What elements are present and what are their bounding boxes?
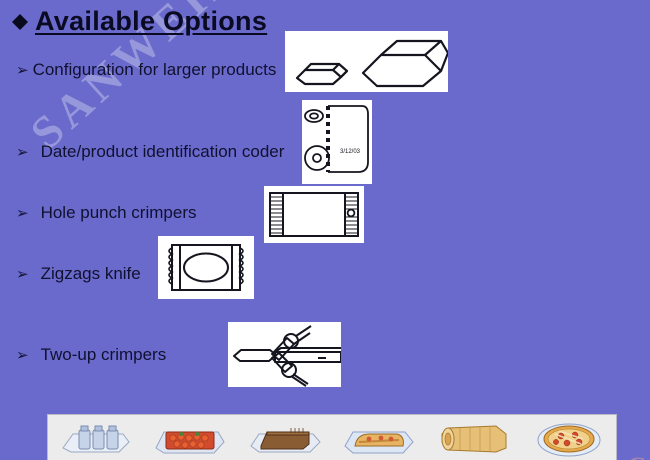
page-title: Available Options xyxy=(35,6,267,37)
product-swiss-roll xyxy=(436,418,512,458)
zigzag-knife-figure xyxy=(158,236,254,299)
product-strawberry-tray xyxy=(152,418,228,458)
slide-canvas: SANWEIHE QINGDAO SANWEIHE MACHINE Availa… xyxy=(0,0,650,460)
slide-title: Available Options xyxy=(12,6,267,37)
large-product-packs-figure xyxy=(285,31,448,92)
arrow-bullet-icon: ➢ xyxy=(16,265,29,283)
bullet-item-hole-punch: ➢ Hole punch crimpers xyxy=(16,203,196,223)
bullet-item-two-up-crimpers: ➢ Two-up crimpers xyxy=(16,345,166,365)
arrow-bullet-icon: ➢ xyxy=(16,143,29,161)
bullet-item-configuration: ➢ Configuration for larger products xyxy=(16,60,276,80)
punch-hole-icon xyxy=(348,210,355,217)
two-up-crimper-figure xyxy=(228,322,341,387)
arrow-bullet-icon: ➢ xyxy=(16,346,29,364)
product-bottles-tray xyxy=(57,418,133,458)
arrow-bullet-icon: ➢ xyxy=(16,204,29,222)
bullet-label: Date/product identification coder xyxy=(41,142,285,162)
date-coder-figure: 3/12/03 xyxy=(302,100,372,184)
product-strip xyxy=(47,414,617,460)
bullet-item-date-coder: ➢ Date/product identification coder xyxy=(16,142,284,162)
bullet-label: Hole punch crimpers xyxy=(41,203,197,223)
product-pizza-tray xyxy=(531,418,607,458)
coder-date-text: 3/12/03 xyxy=(340,149,361,155)
product-sandwich-tray xyxy=(341,418,417,458)
bullet-item-zigzag-knife: ➢ Zigzags knife xyxy=(16,264,141,284)
product-block-pack xyxy=(247,418,323,458)
arrow-bullet-icon: ➢ xyxy=(16,61,29,79)
bullet-label: Two-up crimpers xyxy=(41,345,167,365)
bullet-label: Configuration for larger products xyxy=(33,60,277,80)
hole-punch-crimper-figure xyxy=(264,186,364,243)
bullet-label: Zigzags knife xyxy=(41,264,141,284)
diamond-bullet-icon xyxy=(12,6,28,22)
